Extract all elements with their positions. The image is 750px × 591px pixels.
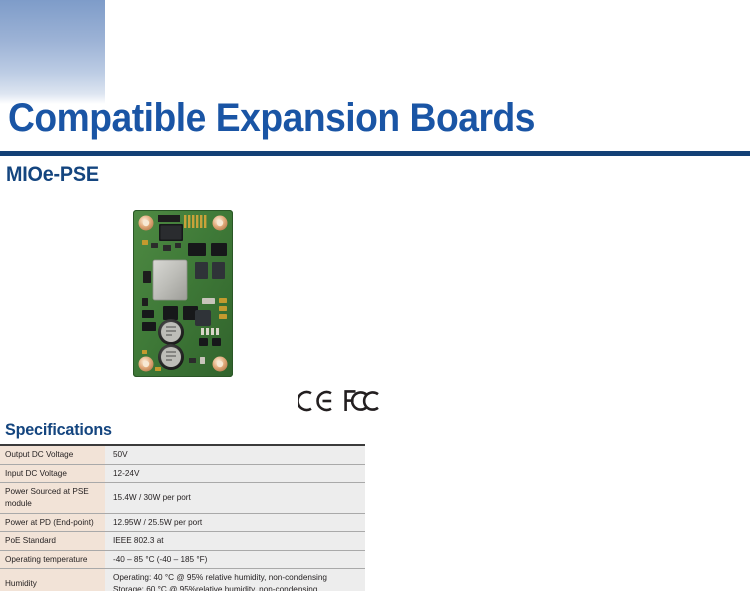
fcc-mark-icon (343, 389, 379, 413)
specifications-heading: Specifications (5, 420, 112, 440)
spec-row-value: -40 – 85 °C (-40 – 185 °F) (105, 550, 365, 569)
spec-row-value: 50V (105, 445, 365, 464)
spec-row: Input DC Voltage12-24V (0, 464, 365, 483)
spec-row-label: Power at PD (End-point) (0, 513, 105, 532)
page-title: Compatible Expansion Boards (8, 96, 535, 141)
datasheet-page: Compatible Expansion Boards MIOe-PSE (0, 0, 750, 591)
spec-row: PoE StandardIEEE 802.3 at (0, 532, 365, 551)
specifications-table-body: Output DC Voltage50VInput DC Voltage12-2… (0, 445, 365, 591)
certification-logos (298, 389, 379, 413)
spec-row-value: 12.95W / 25.5W per port (105, 513, 365, 532)
spec-row: HumidityOperating: 40 °C @ 95% relative … (0, 569, 365, 591)
spec-row-label: Operating temperature (0, 550, 105, 569)
spec-row-value: 12-24V (105, 464, 365, 483)
spec-row-value: IEEE 802.3 at (105, 532, 365, 551)
specifications-table: Output DC Voltage50VInput DC Voltage12-2… (0, 444, 365, 591)
ce-mark-icon (298, 389, 334, 413)
spec-row-value: 15.4W / 30W per port (105, 483, 365, 513)
spec-row: Output DC Voltage50V (0, 445, 365, 464)
spec-row: Operating temperature-40 – 85 °C (-40 – … (0, 550, 365, 569)
spec-row-label: Power Sourced at PSE module (0, 483, 105, 513)
spec-row-label: Output DC Voltage (0, 445, 105, 464)
spec-row-label: PoE Standard (0, 532, 105, 551)
product-name-heading: MIOe-PSE (6, 163, 99, 187)
spec-row-label: Humidity (0, 569, 105, 591)
spec-row: Power Sourced at PSE module15.4W / 30W p… (0, 483, 365, 513)
title-divider-rule (0, 151, 750, 156)
spec-row: Power at PD (End-point)12.95W / 25.5W pe… (0, 513, 365, 532)
spec-row-label: Input DC Voltage (0, 464, 105, 483)
corner-gradient-decoration (0, 0, 105, 104)
product-board-image (133, 210, 233, 377)
spec-row-value: Operating: 40 °C @ 95% relative humidity… (105, 569, 365, 591)
